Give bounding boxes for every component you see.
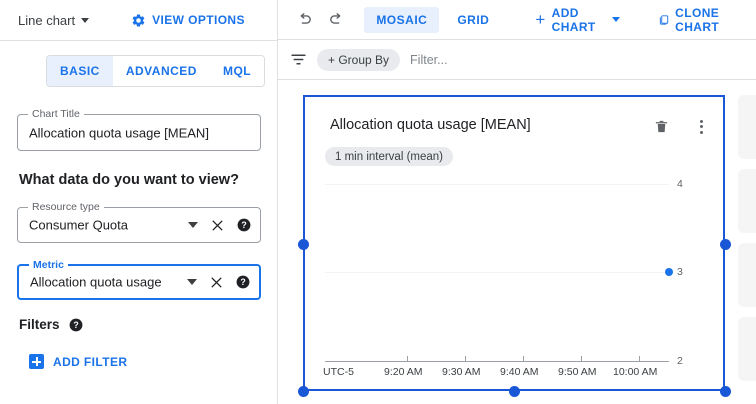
tab-advanced[interactable]: ADVANCED [113, 56, 210, 86]
view-options-button[interactable]: VIEW OPTIONS [131, 13, 245, 28]
resize-handle-left[interactable] [298, 239, 309, 250]
add-filter-button[interactable]: ADD FILTER [29, 354, 127, 369]
svg-text:?: ? [240, 277, 245, 287]
more-vert-icon[interactable] [693, 118, 709, 135]
chart-card-title: Allocation quota usage [MEAN] [330, 117, 531, 133]
svg-text:?: ? [73, 320, 78, 330]
metric-value: Allocation quota usage [30, 275, 162, 290]
add-chart-label: ADD CHART [552, 6, 606, 34]
metric-controls: ? [187, 275, 250, 289]
config-tabs: BASIC ADVANCED MQL [46, 55, 265, 87]
redo-button[interactable] [324, 5, 348, 35]
clear-icon[interactable] [210, 276, 223, 289]
resource-type-value: Consumer Quota [29, 218, 128, 233]
add-filter-label: ADD FILTER [53, 355, 127, 369]
copy-icon [658, 13, 669, 27]
plus-square-icon [29, 354, 44, 369]
dot [700, 120, 703, 123]
tab-basic[interactable]: BASIC [47, 56, 113, 86]
metric-field[interactable]: Metric Allocation quota usage ? [17, 264, 261, 300]
preview-toolbar: MOSAIC GRID + ADD CHART CLONE CHART [278, 0, 756, 40]
panel-header: Line chart VIEW OPTIONS [0, 0, 277, 41]
redo-icon [328, 11, 345, 28]
filters-label: Filters [19, 317, 60, 332]
tab-grid[interactable]: GRID [445, 7, 501, 33]
adjacent-card-peek[interactable] [738, 317, 756, 381]
view-options-label: VIEW OPTIONS [152, 13, 245, 27]
adjacent-card-peek[interactable] [738, 169, 756, 233]
help-icon[interactable]: ? [69, 318, 83, 332]
clone-chart-button[interactable]: CLONE CHART [650, 6, 756, 34]
resize-handle-bottom-center[interactable] [509, 386, 520, 397]
resource-type-controls: ? [188, 218, 251, 232]
svg-text:?: ? [241, 220, 246, 230]
tab-mql[interactable]: MQL [210, 56, 264, 86]
clear-icon[interactable] [211, 219, 224, 232]
dot [700, 131, 703, 134]
group-by-chip[interactable]: + Group By [317, 49, 400, 71]
add-chart-button[interactable]: + ADD CHART [527, 6, 628, 34]
resize-handle-bottom-left[interactable] [298, 386, 309, 397]
clone-chart-label: CLONE CHART [675, 6, 748, 34]
filter-list-icon[interactable] [290, 51, 307, 68]
chart-type-dropdown[interactable]: Line chart [18, 13, 89, 28]
plus-icon: + [535, 11, 545, 28]
tab-mosaic[interactable]: MOSAIC [364, 7, 439, 33]
help-icon[interactable]: ? [237, 218, 251, 232]
interval-chip[interactable]: 1 min interval (mean) [325, 147, 453, 166]
chart-config-panel: Line chart VIEW OPTIONS BASIC ADVANCED M… [0, 0, 278, 404]
chevron-down-icon [612, 17, 620, 22]
resize-handle-bottom-right[interactable] [720, 386, 731, 397]
chart-editor-screen: Line chart VIEW OPTIONS BASIC ADVANCED M… [0, 0, 756, 404]
resource-type-label: Resource type [28, 201, 104, 213]
resize-handle-right[interactable] [720, 239, 731, 250]
undo-icon [296, 11, 313, 28]
data-section-heading: What data do you want to view? [19, 172, 239, 188]
trash-icon[interactable] [654, 118, 669, 135]
filters-section-header: Filters ? [19, 317, 83, 332]
metric-label: Metric [29, 259, 68, 271]
chart-title-field[interactable]: Chart Title Allocation quota usage [MEAN… [17, 114, 261, 151]
dropdown-arrow-icon[interactable] [187, 279, 197, 285]
dropdown-arrow-icon[interactable] [188, 222, 198, 228]
adjacent-card-peek[interactable] [738, 95, 756, 159]
adjacent-card-peek[interactable] [738, 243, 756, 307]
filter-bar: + Group By Filter... [278, 40, 756, 80]
resource-type-field[interactable]: Resource type Consumer Quota ? [17, 207, 261, 243]
chart-title-value: Allocation quota usage [MEAN] [29, 125, 209, 140]
chart-type-label: Line chart [18, 13, 75, 28]
dot [700, 125, 703, 128]
help-icon[interactable]: ? [236, 275, 250, 289]
undo-button[interactable] [292, 5, 316, 35]
chart-title-label: Chart Title [28, 108, 84, 120]
filter-input[interactable]: Filter... [410, 53, 448, 67]
chart-card-selection[interactable] [303, 95, 725, 391]
gear-icon [131, 13, 146, 28]
chevron-down-icon [81, 18, 89, 23]
